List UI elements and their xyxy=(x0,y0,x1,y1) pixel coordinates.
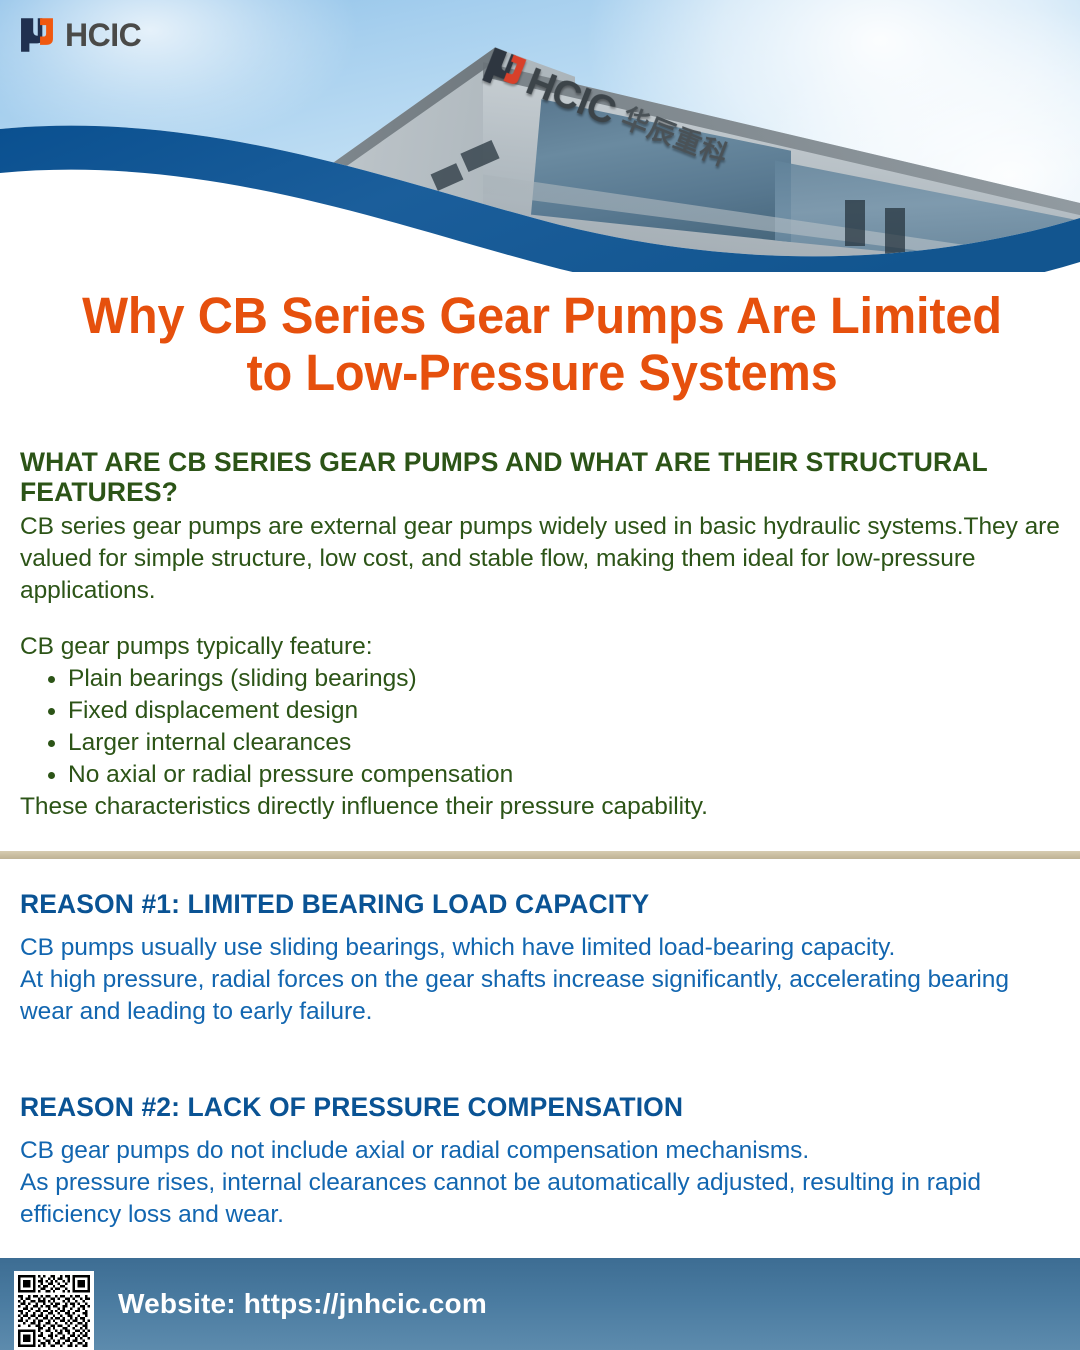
reason-1-paragraph-2: At high pressure, radial forces on the g… xyxy=(20,964,1060,1028)
brand-logo-text: HCIC xyxy=(65,19,141,51)
feature-list-intro: CB gear pumps typically feature: xyxy=(20,631,1064,663)
website-label[interactable]: Website: https://jnhcic.com xyxy=(118,1288,487,1320)
reason-1-paragraph-1: CB pumps usually use sliding bearings, w… xyxy=(20,932,1060,964)
hcic-mark-icon xyxy=(18,16,56,54)
reason-2-paragraph-1: CB gear pumps do not include axial or ra… xyxy=(20,1135,1060,1167)
brand-logo: HCIC xyxy=(18,16,141,54)
reason-1-section: REASON #1: LIMITED BEARING LOAD CAPACITY… xyxy=(20,889,1060,1028)
intro-heading: WHAT ARE CB SERIES GEAR PUMPS AND WHAT A… xyxy=(20,447,1064,507)
reason-1-heading: REASON #1: LIMITED BEARING LOAD CAPACITY xyxy=(20,889,1060,919)
page-title: Why CB Series Gear Pumps Are Limited to … xyxy=(47,288,1036,401)
page-title-line-2: to Low-Pressure Systems xyxy=(246,344,837,401)
feature-list: Plain bearings (sliding bearings) Fixed … xyxy=(38,663,1064,791)
intro-closing-line: These characteristics directly influence… xyxy=(20,791,1064,823)
qr-code-matrix xyxy=(18,1275,90,1347)
reason-2-section: REASON #2: LACK OF PRESSURE COMPENSATION… xyxy=(20,1092,1060,1231)
section-divider xyxy=(0,851,1080,859)
blue-wave-divider xyxy=(0,112,1080,272)
list-item: Plain bearings (sliding bearings) xyxy=(38,663,1064,695)
intro-paragraph: CB series gear pumps are external gear p… xyxy=(20,511,1064,607)
hero-header: HCIC 华辰重科 HCIC xyxy=(0,0,1080,272)
footer-bar: Website: https://jnhcic.com xyxy=(0,1258,1080,1350)
reason-2-paragraph-2: As pressure rises, internal clearances c… xyxy=(20,1167,1060,1231)
list-item: Larger internal clearances xyxy=(38,727,1064,759)
qr-code-icon[interactable] xyxy=(14,1271,94,1350)
page-title-line-1: Why CB Series Gear Pumps Are Limited xyxy=(82,287,1002,344)
reason-2-heading: REASON #2: LACK OF PRESSURE COMPENSATION xyxy=(20,1092,1060,1122)
intro-section: WHAT ARE CB SERIES GEAR PUMPS AND WHAT A… xyxy=(20,447,1064,823)
infographic-page: HCIC 华辰重科 HCIC Why CB Seri xyxy=(0,0,1080,1350)
list-item: No axial or radial pressure compensation xyxy=(38,759,1064,791)
list-item: Fixed displacement design xyxy=(38,695,1064,727)
